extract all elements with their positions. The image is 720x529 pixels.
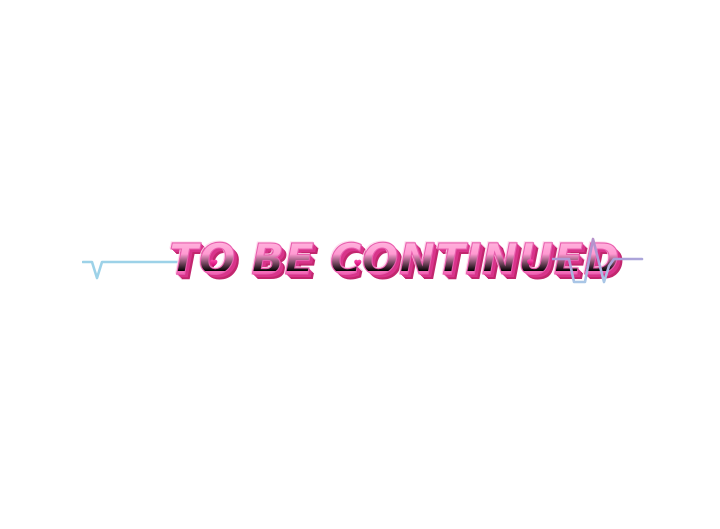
ekg-line-right (552, 226, 644, 298)
canvas-root: TO BE CONTINUED TO BE CONTINUED TO BE CO… (0, 0, 720, 529)
ekg-line-left (82, 236, 178, 288)
to-be-continued-banner: TO BE CONTINUED TO BE CONTINUED TO BE CO… (0, 222, 720, 302)
page-title: TO BE CONTINUED TO BE CONTINUED TO BE CO… (168, 222, 560, 302)
